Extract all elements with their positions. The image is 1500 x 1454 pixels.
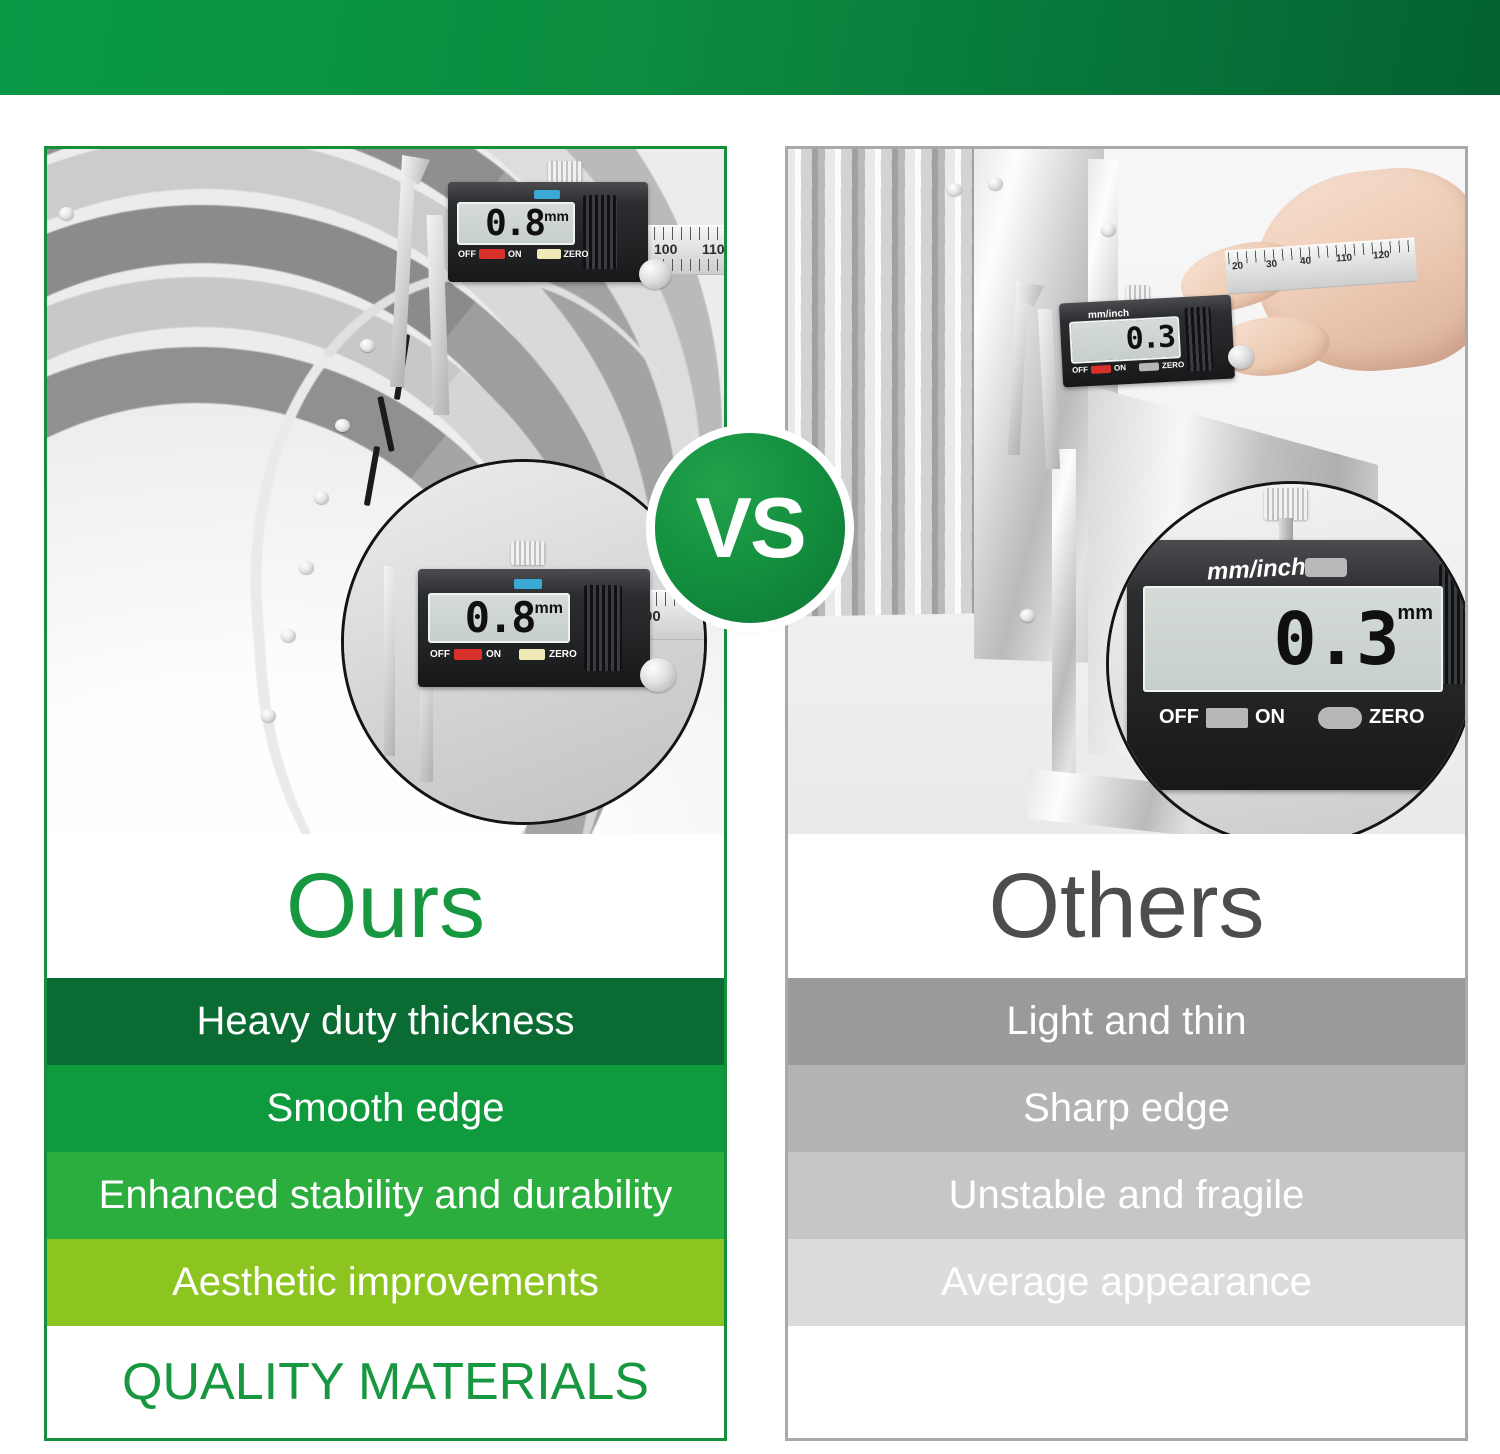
rivet bbox=[1020, 609, 1035, 622]
power-switch bbox=[1206, 708, 1248, 728]
ruler-mark-110: 110 bbox=[702, 241, 724, 257]
feature-rows-ours: Heavy duty thickness Smooth edge Enhance… bbox=[47, 978, 724, 1326]
lcd-unit: mm bbox=[1397, 602, 1433, 625]
panel-others: 20 30 40 110 120 mm/inch 0.3 OFF ON ZERO bbox=[785, 146, 1468, 1441]
zero-switch bbox=[519, 649, 545, 660]
metal-box-face bbox=[974, 149, 1104, 663]
on-label: ON bbox=[486, 649, 501, 660]
feature-rows-others: Light and thin Sharp edge Unstable and f… bbox=[788, 978, 1465, 1326]
feature-row: Light and thin bbox=[788, 978, 1465, 1065]
magnifier-inset-others: mm/inch 0.3 mm OFF ON ZERO bbox=[1106, 481, 1465, 834]
inset-lock-screw bbox=[1264, 488, 1308, 520]
ruler-mark-110: 110 bbox=[1336, 252, 1353, 264]
lcd-value: 0.3 bbox=[1273, 603, 1397, 675]
quality-materials-text: QUALITY MATERIALS bbox=[122, 1352, 649, 1412]
off-label: OFF bbox=[1072, 365, 1088, 375]
inset-mode-label: mm/inch bbox=[1206, 553, 1306, 586]
rivet bbox=[314, 491, 329, 504]
inset-mode-button bbox=[514, 579, 542, 589]
off-label: OFF bbox=[430, 649, 450, 660]
caliper-button-row: OFF ON ZERO bbox=[458, 249, 589, 259]
off-label: OFF bbox=[1159, 706, 1199, 729]
rivet bbox=[281, 629, 296, 642]
panel-title-ours: Ours bbox=[286, 860, 485, 952]
inset-mode-button bbox=[1305, 558, 1347, 577]
inset-thumb-wheel bbox=[640, 658, 676, 692]
vs-label: VS bbox=[695, 486, 804, 571]
title-band-others: Others bbox=[788, 834, 1465, 978]
panel-title-others: Others bbox=[988, 860, 1264, 952]
caliper-thumb-wheel bbox=[1228, 345, 1254, 369]
zero-label: ZERO bbox=[1162, 360, 1185, 370]
panel-ours: 90 100 110 0.8 mm OFF ON ZERO bbox=[44, 146, 727, 1441]
zero-label: ZERO bbox=[564, 249, 589, 259]
inset-button-row: OFF ON ZERO bbox=[430, 649, 577, 660]
caliper-lcd-ours: 0.8 mm bbox=[457, 202, 575, 245]
rivet bbox=[360, 339, 375, 352]
rivet bbox=[988, 177, 1003, 190]
inset-button-row: OFF ON ZERO bbox=[1159, 706, 1425, 729]
caliper-lock-screw bbox=[548, 161, 582, 183]
inset-jaw-upper bbox=[384, 566, 395, 756]
ruler-mark-30: 30 bbox=[1266, 259, 1278, 271]
on-label: ON bbox=[508, 249, 522, 259]
caliper-mode-button bbox=[534, 190, 560, 199]
on-label: ON bbox=[1255, 706, 1285, 729]
ruler-mark-120: 120 bbox=[1373, 249, 1390, 261]
caliper-grip bbox=[1184, 306, 1213, 371]
power-switch bbox=[454, 649, 482, 660]
feature-row: Sharp edge bbox=[788, 1065, 1465, 1152]
inset-lcd-others: 0.3 mm bbox=[1143, 586, 1443, 692]
power-switch bbox=[1091, 364, 1111, 373]
zero-switch bbox=[1139, 362, 1159, 371]
zero-switch bbox=[537, 249, 561, 259]
title-band-ours: Ours bbox=[47, 834, 724, 978]
thin-sheet-vertical-edge bbox=[1052, 449, 1076, 819]
lcd-value: 0.8 bbox=[485, 206, 544, 242]
top-green-banner bbox=[0, 0, 1500, 95]
vs-badge: VS bbox=[655, 433, 845, 623]
caliper-thumb-wheel bbox=[639, 259, 671, 289]
lcd-value: 0.8 bbox=[465, 597, 535, 639]
magnifier-inset-ours: 90 0.8 mm OFF ON ZERO bbox=[341, 459, 707, 825]
rivet bbox=[261, 709, 276, 722]
footer-ours: QUALITY MATERIALS bbox=[47, 1326, 724, 1438]
off-label: OFF bbox=[458, 249, 476, 259]
power-switch bbox=[479, 249, 505, 259]
rivet bbox=[299, 561, 314, 574]
zero-label: ZERO bbox=[1369, 706, 1425, 729]
inset-lock-screw bbox=[511, 541, 545, 565]
zero-label: ZERO bbox=[549, 649, 577, 660]
caliper-lcd-others: 0.3 bbox=[1069, 316, 1181, 364]
ruler-mark-100: 100 bbox=[654, 241, 677, 257]
feature-row: Aesthetic improvements bbox=[47, 1239, 724, 1326]
product-photo-ours: 90 100 110 0.8 mm OFF ON ZERO bbox=[47, 149, 724, 834]
lcd-value: 0.3 bbox=[1125, 322, 1175, 354]
feature-row: Unstable and fragile bbox=[788, 1152, 1465, 1239]
ruler-mark-40: 40 bbox=[1300, 256, 1312, 268]
lcd-unit: mm bbox=[535, 600, 563, 618]
inset-lcd-ours: 0.8 mm bbox=[428, 593, 570, 643]
rivet bbox=[947, 183, 962, 196]
ruler-mark-20: 20 bbox=[1232, 261, 1244, 273]
product-photo-others: 20 30 40 110 120 mm/inch 0.3 OFF ON ZERO bbox=[788, 149, 1465, 834]
inset-grip bbox=[584, 585, 622, 671]
feature-row: Heavy duty thickness bbox=[47, 978, 724, 1065]
zero-switch bbox=[1318, 707, 1362, 729]
footer-others bbox=[788, 1326, 1465, 1438]
rivet bbox=[1101, 223, 1116, 236]
comparison-stage: 90 100 110 0.8 mm OFF ON ZERO bbox=[0, 95, 1500, 1454]
feature-row: Enhanced stability and durability bbox=[47, 1152, 724, 1239]
on-label: ON bbox=[1114, 363, 1126, 373]
lcd-unit: mm bbox=[544, 208, 569, 224]
feature-row: Smooth edge bbox=[47, 1065, 724, 1152]
feature-row: Average appearance bbox=[788, 1239, 1465, 1326]
rivet bbox=[59, 207, 74, 220]
rivet bbox=[335, 419, 350, 432]
